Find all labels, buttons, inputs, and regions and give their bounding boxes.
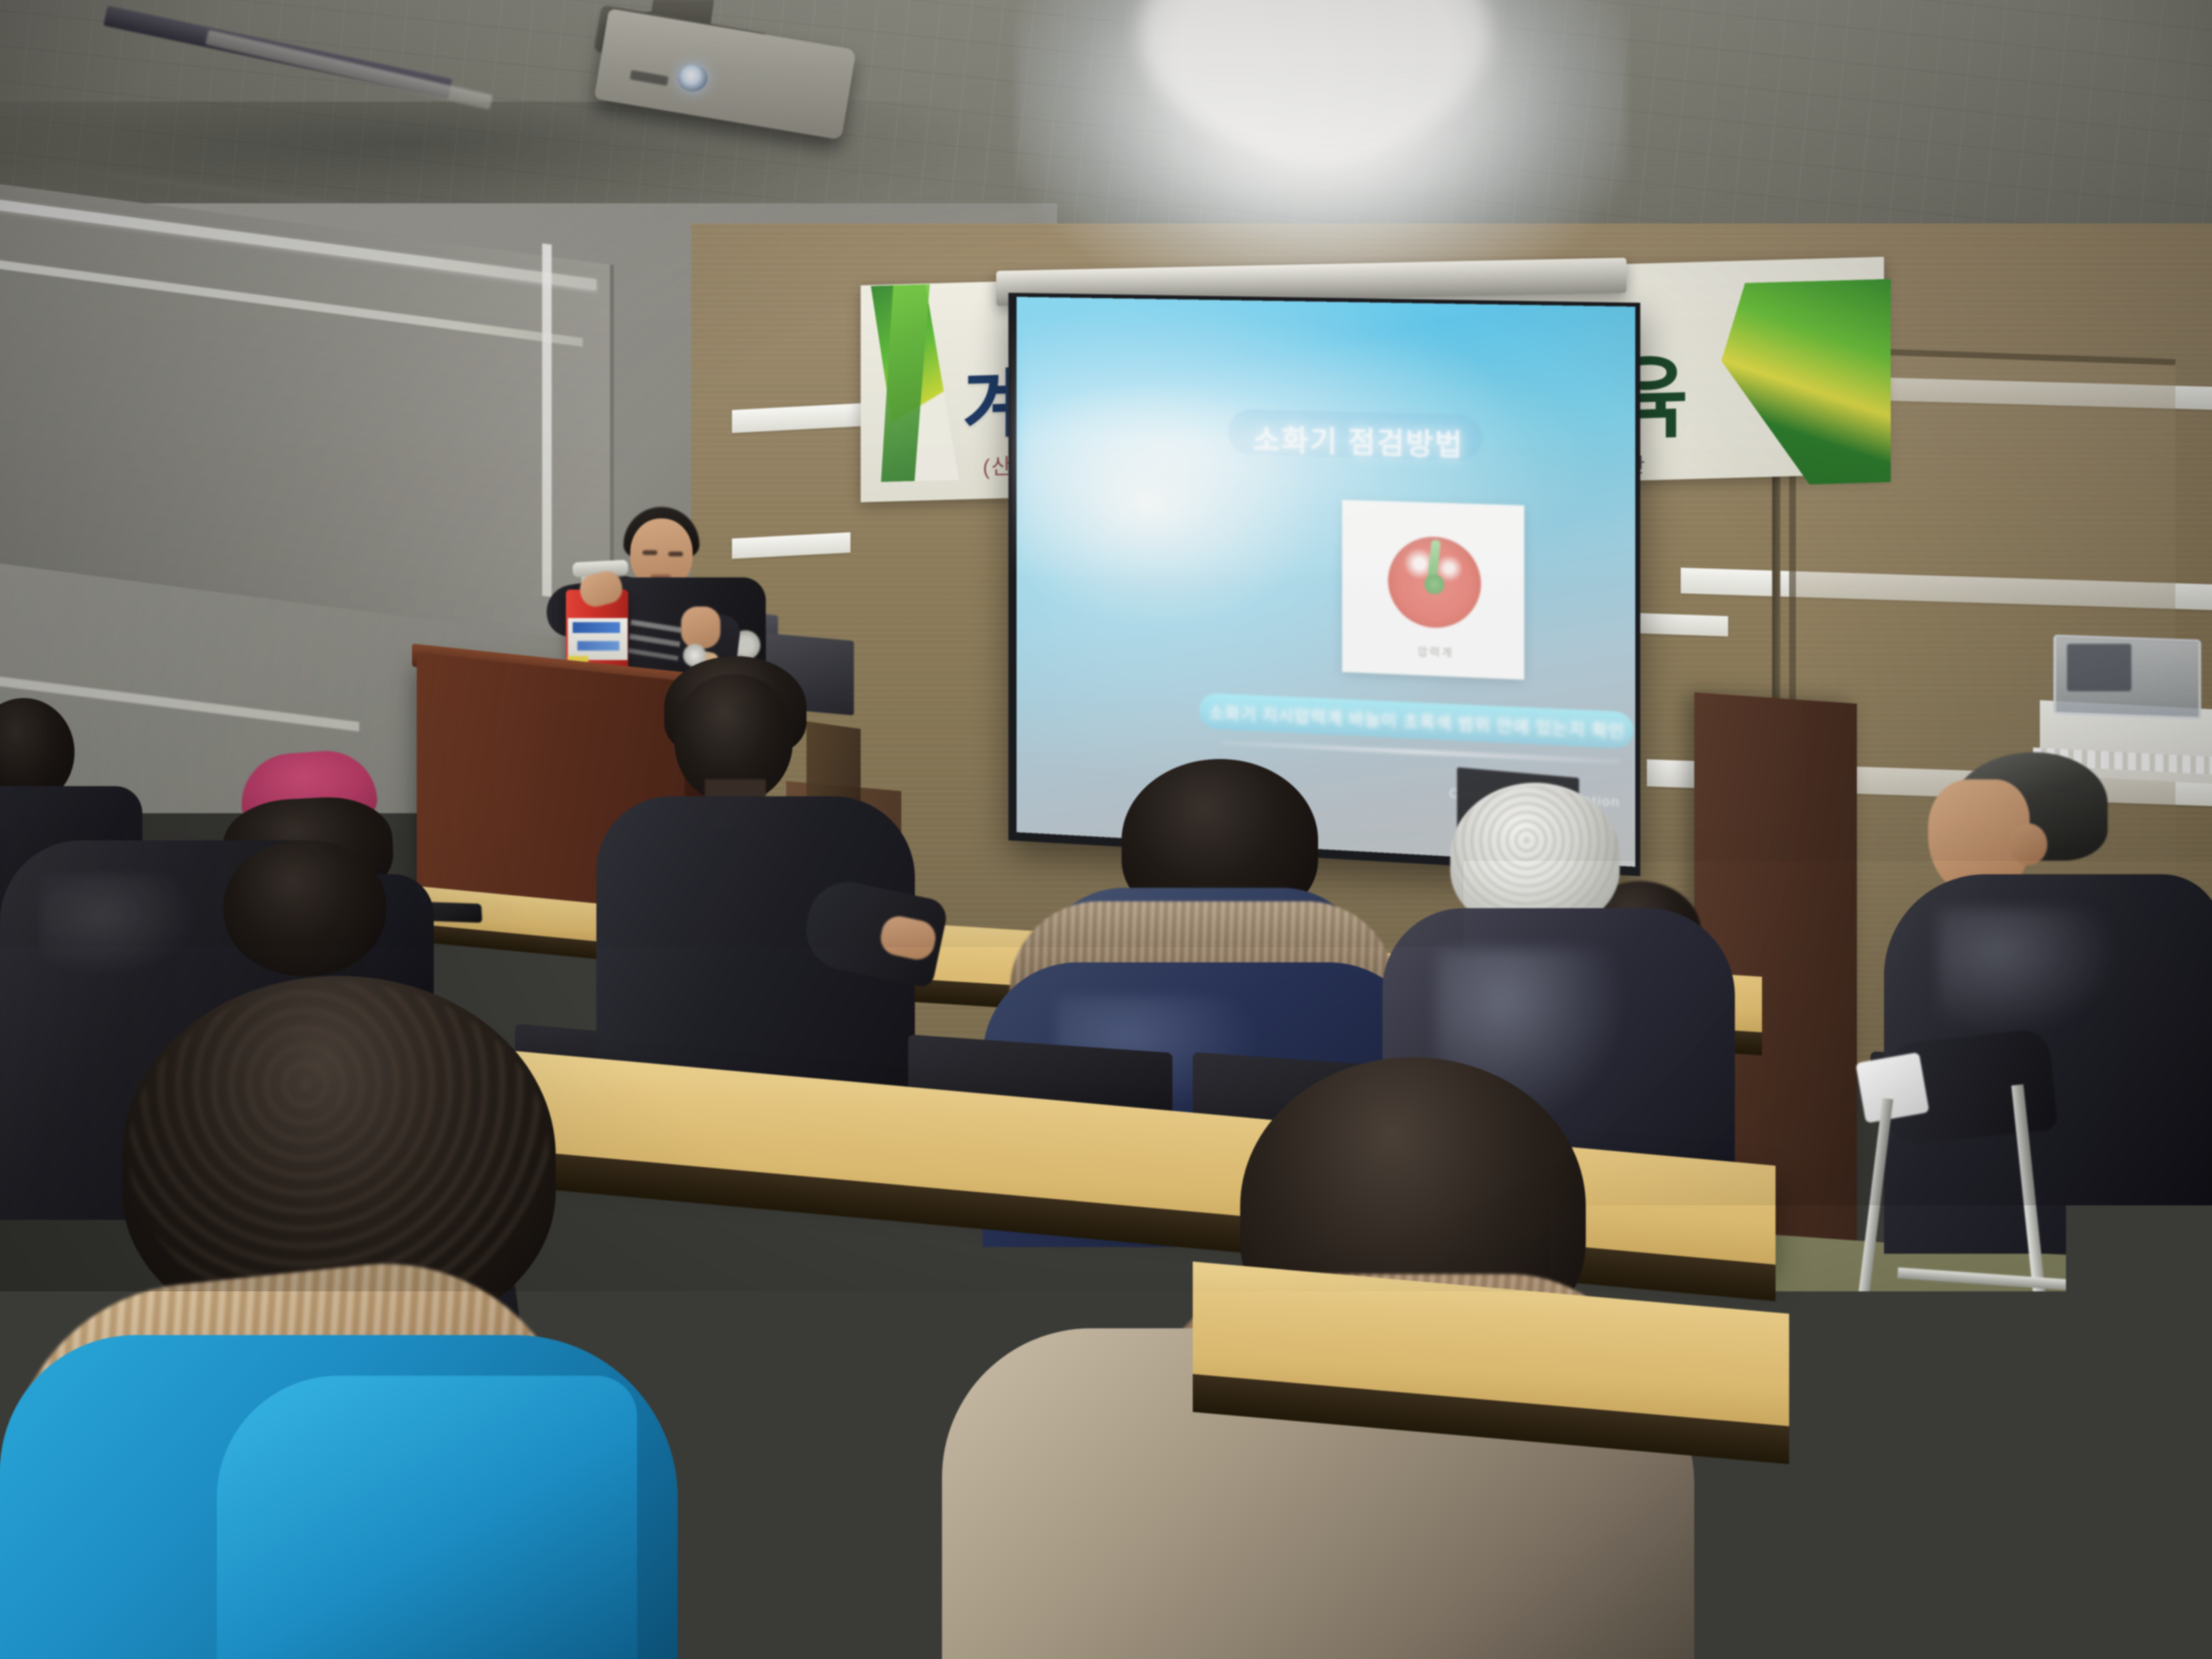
attendee-leather-jacket-head <box>224 840 386 976</box>
extinguisher-label-band <box>577 641 619 651</box>
attendee-coat-highlight <box>41 874 197 976</box>
floor-reflection <box>1762 1342 2114 1518</box>
hair-texture <box>1450 786 1620 922</box>
paper-handout[interactable] <box>1856 1052 1929 1123</box>
gauge-hub-icon <box>1425 574 1445 594</box>
attendee-ear <box>2009 823 2047 865</box>
handbag-on-floor[interactable] <box>741 1544 920 1659</box>
presenter-eye <box>668 552 683 556</box>
photo-scene: 계 (산 육 자관 소화기 점검방법 압력계 소화기 지시압력계 바늘이 초록색… <box>0 0 2212 1659</box>
presenter-eye <box>642 550 657 555</box>
attendee-coat-highlight <box>1938 908 2121 1037</box>
projector-lens-icon <box>678 64 708 91</box>
extinguisher-label-band <box>573 622 620 633</box>
blind-vertical-edge <box>542 243 552 597</box>
slide-title: 소화기 점검방법 <box>1231 416 1486 457</box>
attendee-blue-coat-shoulder <box>217 1376 637 1659</box>
storage-bin-contents <box>2067 644 2131 691</box>
presenter-right-hand <box>681 607 720 649</box>
